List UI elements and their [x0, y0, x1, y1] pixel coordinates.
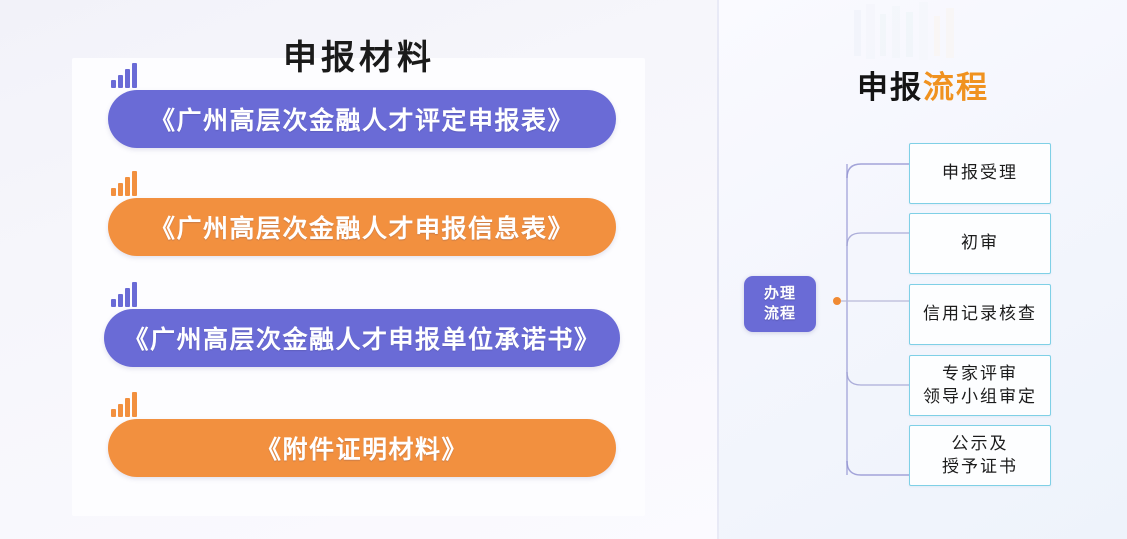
flow-node-label: 初审 [961, 232, 999, 254]
flow-node-label: 申报受理 [942, 162, 1018, 184]
material-label: 《广州高层次金融人才申报信息表》 [150, 209, 574, 245]
infographic-screen: 申报材料 《广州高层次金融人才评定申报表》 [0, 0, 1127, 539]
flow-root-connector-dot [833, 297, 841, 305]
flow-node-1[interactable]: 申报受理 [909, 143, 1051, 204]
flow-node-label: 专家评审 领导小组审定 [923, 363, 1037, 407]
process-title-black: 申报 [857, 70, 923, 105]
flow-node-label: 信用记录核查 [923, 303, 1037, 325]
flow-root-line1: 办理 [764, 284, 796, 304]
flow-root-node[interactable]: 办理 流程 [744, 276, 816, 332]
bar-chart-icon [110, 170, 140, 196]
material-label: 《广州高层次金融人才申报单位承诺书》 [123, 320, 600, 356]
material-label: 《附件证明材料》 [256, 430, 468, 466]
bar-chart-icon [110, 391, 140, 417]
material-pill[interactable]: 《附件证明材料》 [108, 419, 616, 477]
process-title-orange: 流程 [923, 70, 989, 105]
declaration-materials-panel: 申报材料 《广州高层次金融人才评定申报表》 [0, 0, 718, 539]
flow-node-2[interactable]: 初审 [909, 213, 1051, 274]
flow-node-4[interactable]: 专家评审 领导小组审定 [909, 355, 1051, 416]
bar-chart-icon [110, 281, 140, 307]
flow-node-3[interactable]: 信用记录核查 [909, 284, 1051, 345]
process-title: 申报流程 [719, 62, 1127, 107]
page-title: 申报材料 [0, 30, 718, 79]
flow-node-5[interactable]: 公示及 授予证书 [909, 425, 1051, 486]
flow-node-label: 公示及 授予证书 [942, 433, 1018, 477]
material-pill[interactable]: 《广州高层次金融人才评定申报表》 [108, 90, 616, 148]
material-pill[interactable]: 《广州高层次金融人才申报信息表》 [108, 198, 616, 256]
flow-root-line2: 流程 [764, 304, 796, 324]
material-pill[interactable]: 《广州高层次金融人才申报单位承诺书》 [104, 309, 620, 367]
declaration-process-panel: 申报流程 办理 流程 申 [719, 0, 1127, 539]
material-label: 《广州高层次金融人才评定申报表》 [150, 101, 574, 137]
